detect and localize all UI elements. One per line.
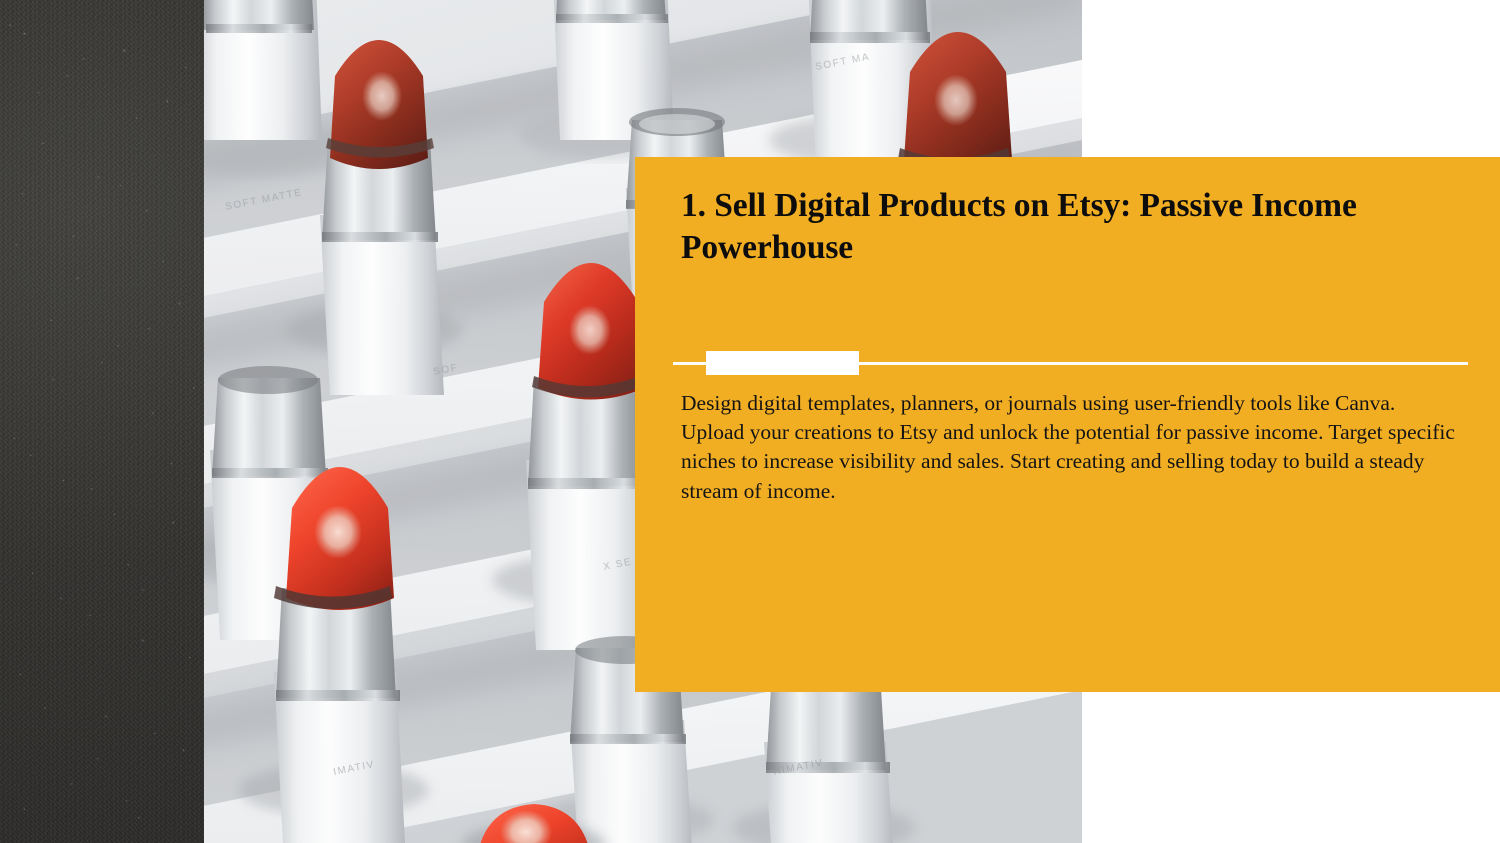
slide-body-text: Design digital templates, planners, or j… [681, 389, 1456, 506]
dark-texture-panel [0, 0, 204, 843]
slide-canvas: SOFT MATTE X SE IMATIV HIMATIV SOF SOFT … [0, 0, 1500, 843]
content-card: 1. Sell Digital Products on Etsy: Passiv… [635, 157, 1500, 692]
divider-block [706, 351, 859, 375]
slide-title: 1. Sell Digital Products on Etsy: Passiv… [681, 185, 1453, 268]
title-divider [673, 351, 1468, 375]
texture-speck-overlay [0, 0, 204, 843]
